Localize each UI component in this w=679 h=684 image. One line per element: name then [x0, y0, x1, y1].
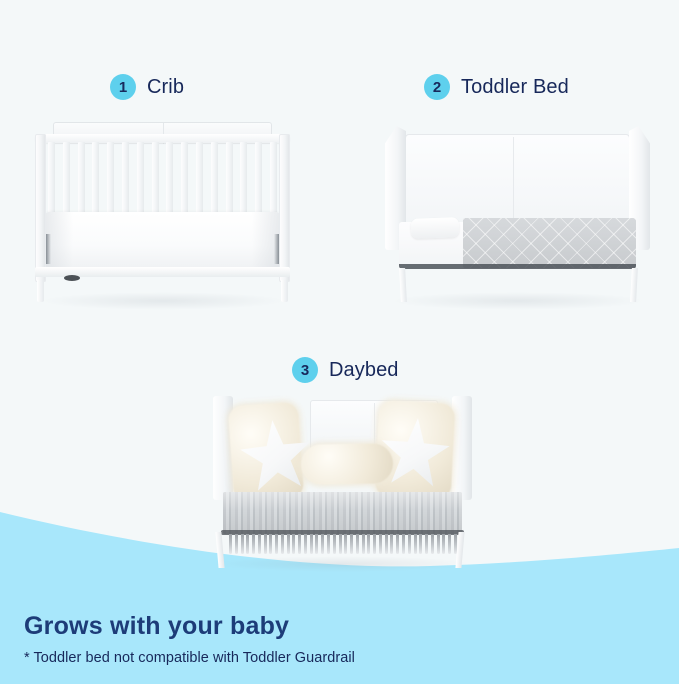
daybed-throw-shading [223, 492, 462, 534]
step-badge-1: 1 [110, 74, 136, 100]
step-header-toddler-bed: 2 Toddler Bed [424, 74, 569, 100]
toddler-bed-leg-right [630, 268, 638, 302]
toddler-bed-base-rail [399, 264, 636, 269]
crib-post-left [35, 134, 46, 282]
toddler-bed-pillow [411, 217, 460, 239]
step-label-toddler-bed: Toddler Bed [461, 76, 569, 99]
daybed-fur-bolster-pillow [301, 443, 394, 485]
step-header-crib: 1 Crib [110, 74, 184, 100]
step-header-daybed: 3 Daybed [292, 357, 399, 383]
toddler-bed-leg-left [399, 268, 407, 302]
step-label-crib: Crib [147, 76, 184, 99]
banner-headline: Grows with your baby [24, 612, 355, 641]
daybed-leg-left [215, 532, 224, 568]
infographic-canvas: 1 Crib 2 Toddler Bed 3 Daybed Grows with… [0, 0, 679, 684]
crib-inner-shadow-left [46, 234, 51, 264]
toddler-bed-quilted-blanket [463, 218, 636, 268]
step-label-daybed: Daybed [329, 359, 399, 382]
crib-frame [35, 134, 290, 282]
daybed-throw-fringe [229, 534, 457, 554]
crib-mattress-shading [45, 212, 280, 268]
daybed-side-right [452, 396, 472, 500]
crib-post-right [279, 134, 290, 282]
banner-text-block: Grows with your baby * Toddler bed not c… [24, 612, 355, 666]
crib-legs [35, 280, 290, 302]
crib-leg-left [37, 280, 44, 302]
banner-footnote: * Toddler bed not compatible with Toddle… [24, 650, 355, 666]
step-badge-2: 2 [424, 74, 450, 100]
crib-illustration [35, 122, 290, 302]
crib-leg-right [281, 280, 288, 302]
daybed-illustration [205, 392, 480, 568]
toddler-bed-illustration [385, 126, 650, 302]
step-badge-3: 3 [292, 357, 318, 383]
